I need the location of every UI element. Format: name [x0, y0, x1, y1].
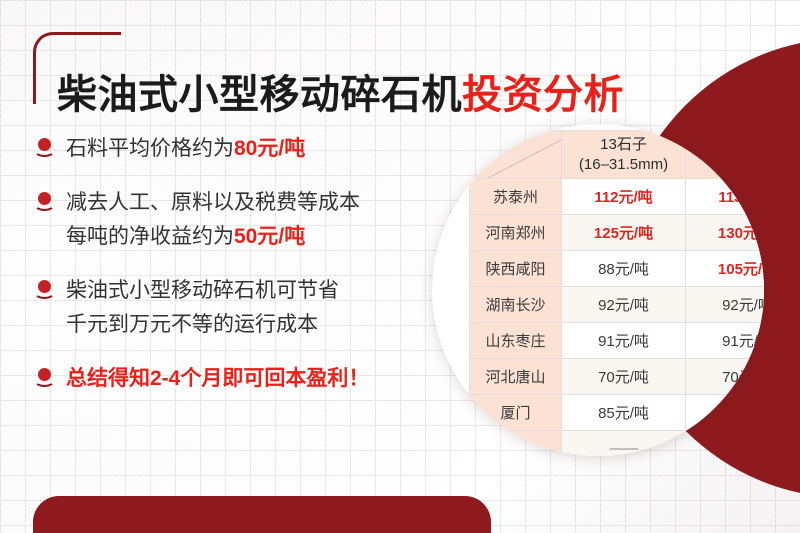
column-header-title: 13石子	[562, 135, 685, 154]
page-title-segment-1: 投资分析	[462, 73, 624, 117]
table-cell-price: 88元/吨	[562, 251, 686, 287]
table-cell-location: 河北唐山	[470, 359, 562, 395]
table-cell-price: 91元/吨	[686, 323, 765, 359]
bullet-text-segment: 每吨的净收益约为	[66, 225, 234, 248]
price-table-head: 13石子(16–31.5mm)(10–	[470, 131, 765, 179]
bullet-item: 石料平均价格约为80元/吨	[30, 132, 450, 166]
table-cell-location: 湖南长沙	[470, 287, 562, 323]
table-cell-location: 陕西咸阳	[470, 251, 562, 287]
table-cell-price: 70元/吨	[562, 359, 686, 395]
table-cell-price: 92元/吨	[686, 287, 765, 323]
column-header-subtitle: (10–	[686, 145, 764, 164]
table-cell-location: 山东枣庄	[470, 323, 562, 359]
page-title-segment-0: 柴油式小型移动碎石机	[57, 73, 462, 117]
table-header-row: 13石子(16–31.5mm)(10–	[470, 131, 765, 179]
table-column-header-1: (10–	[686, 131, 765, 179]
table-row: 厦门85元/吨85元/吨	[470, 395, 765, 431]
page-title: 柴油式小型移动碎石机投资分析	[57, 71, 624, 119]
bullet-line: 每吨的净收益约为50元/吨	[66, 220, 450, 254]
poster-canvas: 柴油式小型移动碎石机投资分析 石料平均价格约为80元/吨减去人工、原料以及税费等…	[0, 0, 800, 533]
bullet-text-segment: 50元/吨	[234, 225, 305, 248]
bullet-item: 柴油式小型移动碎石机可节省千元到万元不等的运行成本	[30, 274, 450, 342]
table-corner-cell	[470, 131, 562, 179]
table-cell-price: 85元/吨	[562, 395, 686, 431]
table-row: 苏泰州112元/吨113元/吨	[470, 179, 765, 215]
table-row: ——	[470, 431, 765, 457]
table-cell-price: 85元/吨	[686, 395, 765, 431]
table-cell-location: 河南郑州	[470, 215, 562, 251]
bullet-dot-icon	[33, 280, 57, 300]
table-cell-price: 113元/吨	[686, 179, 765, 215]
price-table-body: 苏泰州112元/吨113元/吨河南郑州125元/吨130元/吨陕西咸阳88元/吨…	[470, 179, 765, 457]
bullet-line: 柴油式小型移动碎石机可节省	[66, 274, 450, 308]
bullet-text-segment: 总结得知2-4个月即可回本盈利！	[66, 367, 369, 390]
table-cell-price: 70元/吨	[686, 359, 765, 395]
table-cell-location	[470, 431, 562, 457]
bullet-line: 石料平均价格约为80元/吨	[66, 132, 450, 166]
table-cell-location: 厦门	[470, 395, 562, 431]
table-cell-location: 苏泰州	[470, 179, 562, 215]
table-cell-price: 125元/吨	[562, 215, 686, 251]
bullet-dot-icon	[33, 192, 57, 212]
magnifier-lens: 13石子(16–31.5mm)(10– 苏泰州112元/吨113元/吨河南郑州1…	[432, 124, 764, 456]
bullet-item: 总结得知2-4个月即可回本盈利！	[30, 362, 450, 396]
table-cell-price: 92元/吨	[562, 287, 686, 323]
bullet-line: 总结得知2-4个月即可回本盈利！	[66, 362, 450, 396]
bullet-line: 减去人工、原料以及税费等成本	[66, 186, 450, 220]
magnifier-content: 13石子(16–31.5mm)(10– 苏泰州112元/吨113元/吨河南郑州1…	[432, 124, 764, 456]
bullet-item: 减去人工、原料以及税费等成本每吨的净收益约为50元/吨	[30, 186, 450, 254]
price-table: 13石子(16–31.5mm)(10– 苏泰州112元/吨113元/吨河南郑州1…	[469, 130, 764, 456]
table-cell-price: 130元/吨	[686, 215, 765, 251]
diagonal-divider-icon	[470, 131, 561, 178]
column-header-subtitle: (16–31.5mm)	[562, 155, 685, 174]
table-cell-price	[686, 431, 765, 457]
decorative-bottom-bar	[33, 496, 491, 533]
table-cell-price: 112元/吨	[562, 179, 686, 215]
table-row: 陕西咸阳88元/吨105元/吨	[470, 251, 765, 287]
bullet-text-segment: 柴油式小型移动碎石机可节省	[66, 279, 339, 302]
table-row: 河北唐山70元/吨70元/吨	[470, 359, 765, 395]
bullet-dot-icon	[33, 368, 57, 388]
bullet-text-segment: 80元/吨	[234, 137, 305, 160]
bullet-text-segment: 减去人工、原料以及税费等成本	[66, 191, 360, 214]
table-row: 湖南长沙92元/吨92元/吨	[470, 287, 765, 323]
table-cell-price: 105元/吨	[686, 251, 765, 287]
bullet-list: 石料平均价格约为80元/吨减去人工、原料以及税费等成本每吨的净收益约为50元/吨…	[30, 132, 450, 416]
table-row: 山东枣庄91元/吨91元/吨	[470, 323, 765, 359]
bullet-text-segment: 千元到万元不等的运行成本	[66, 313, 318, 336]
bullet-line: 千元到万元不等的运行成本	[66, 308, 450, 342]
bullet-dot-icon	[33, 138, 57, 158]
table-cell-price: ——	[562, 431, 686, 457]
bullet-text-segment: 石料平均价格约为	[66, 137, 234, 160]
table-column-header-0: 13石子(16–31.5mm)	[562, 131, 686, 179]
table-cell-price: 91元/吨	[562, 323, 686, 359]
table-row: 河南郑州125元/吨130元/吨	[470, 215, 765, 251]
